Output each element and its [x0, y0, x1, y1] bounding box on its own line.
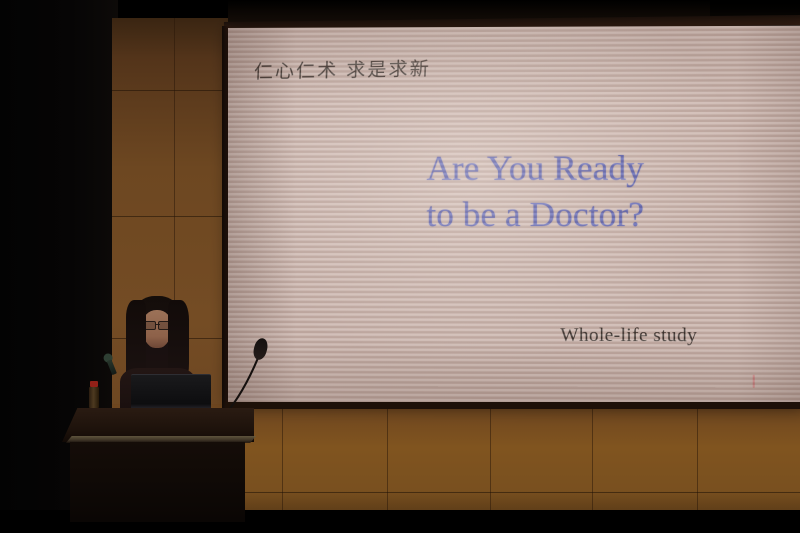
- slide-subtitle: Whole-life study: [560, 325, 697, 348]
- water-bottle: [89, 381, 99, 408]
- bottle-body: [89, 387, 99, 408]
- projection-screen: 仁心仁术 求是求新 Are You Ready to be a Doctor? …: [228, 26, 800, 409]
- slide-title-line-1: Are You Ready: [368, 145, 702, 192]
- screen-frame-bottom: [226, 402, 800, 409]
- presenter-laptop: [131, 374, 211, 409]
- wall-seam: [490, 404, 491, 512]
- wall-seam: [697, 404, 698, 512]
- presentation-slide: 仁心仁术 求是求新 Are You Ready to be a Doctor? …: [228, 26, 800, 409]
- lectern-podium-body: [70, 442, 245, 522]
- slide-calligraphy-header: 仁心仁术 求是求新: [254, 54, 432, 84]
- wall-seam: [592, 404, 593, 512]
- laser-pointer-dot: [753, 375, 755, 388]
- wall-seam: [387, 404, 388, 512]
- podium-gooseneck-microphone: [222, 336, 278, 418]
- wall-seam: [282, 404, 283, 512]
- slide-title-line-2: to be a Doctor?: [368, 192, 702, 239]
- lecture-hall-photo: 仁心仁术 求是求新 Are You Ready to be a Doctor? …: [0, 0, 800, 533]
- slide-title: Are You Ready to be a Doctor?: [368, 145, 702, 238]
